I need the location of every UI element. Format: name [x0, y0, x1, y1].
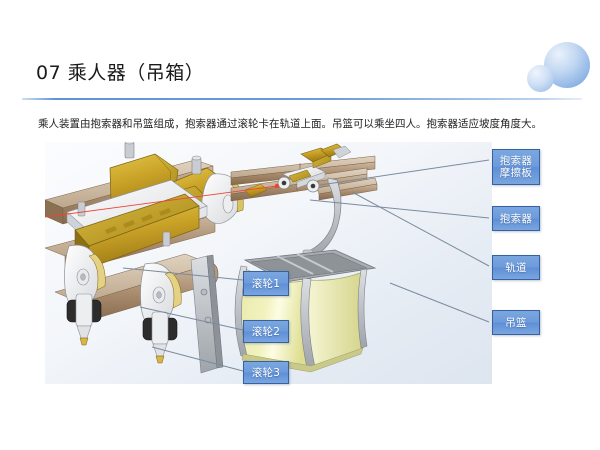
page-title: 07 乘人器（吊箱）: [36, 58, 204, 85]
label-roller-2-text: 滚轮2: [252, 326, 281, 338]
label-roller-3-text: 滚轮3: [252, 367, 281, 379]
label-roller-1[interactable]: 滚轮1: [243, 271, 289, 296]
gondola-cabin: [235, 250, 375, 372]
cad-figure: [45, 142, 492, 384]
label-gondola[interactable]: 吊篮: [492, 310, 540, 335]
label-roller-1-text: 滚轮1: [252, 278, 281, 290]
slide-root: 07 乘人器（吊箱） 乘人装置由抱索器和吊篮组成，抱索器通过滚轮卡在轨道上面。吊…: [0, 0, 600, 450]
cad-illustration: [45, 142, 492, 384]
roller-carrier-center: [141, 263, 182, 363]
label-grip[interactable]: 抱索器: [492, 206, 540, 231]
label-gondola-text: 吊篮: [505, 317, 527, 329]
title-divider: [22, 98, 582, 100]
label-roller-2[interactable]: 滚轮2: [243, 320, 289, 343]
label-roller-3[interactable]: 滚轮3: [243, 361, 289, 384]
label-rail-text: 轨道: [505, 262, 527, 274]
small-blue-circle-icon: [527, 65, 554, 92]
label-grip-friction-plate[interactable]: 抱索器 摩擦板: [492, 149, 540, 185]
label-rail[interactable]: 轨道: [492, 255, 540, 280]
label-grip-text: 抱索器: [500, 213, 532, 225]
body-paragraph: 乘人装置由抱索器和吊篮组成，抱索器通过滚轮卡在轨道上面。吊篮可以乘坐四人。抱索器…: [38, 117, 568, 132]
header-decoration: [520, 36, 600, 102]
label-grip-friction-plate-line1: 抱索器: [500, 155, 532, 167]
label-grip-friction-plate-line2: 摩擦板: [500, 167, 532, 179]
